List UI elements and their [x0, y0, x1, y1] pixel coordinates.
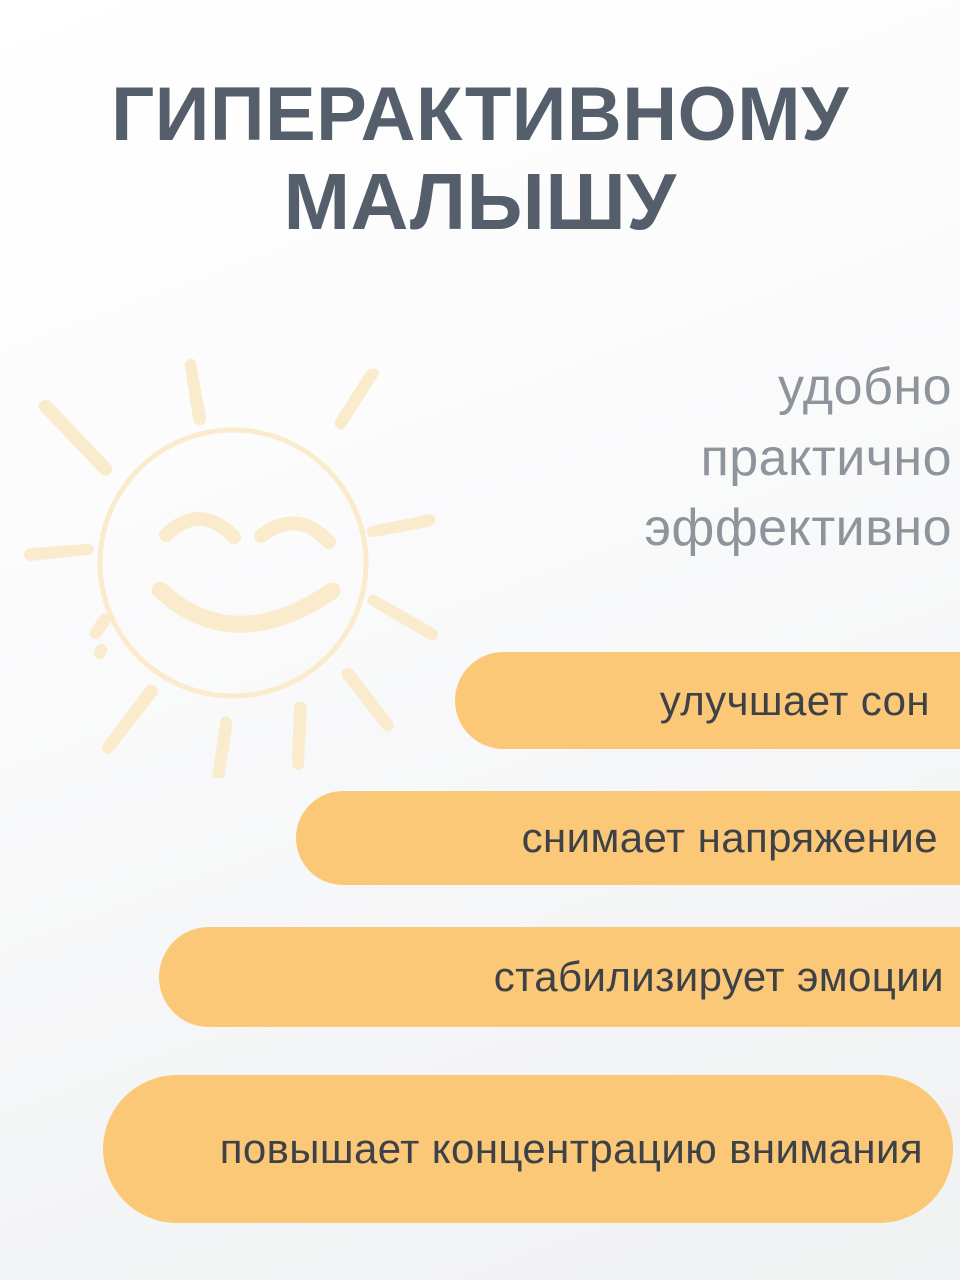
- benefit-pill-1-label: улучшает сон: [515, 674, 930, 728]
- benefit-pill-4-label: повышает концентрацию внимания: [163, 1123, 923, 1174]
- benefit-pill-3[interactable]: стабилизирует эмоции: [159, 927, 960, 1027]
- benefit-pill-3-label: стабилизирует эмоции: [219, 950, 944, 1004]
- subtitle-block: удобно практично эффективно: [392, 352, 952, 564]
- page-title: ГИПЕРАКТИВНОМУ МАЛЫШУ: [0, 72, 960, 247]
- subtitle-line-2: практично: [392, 423, 952, 494]
- headline-line-2: МАЛЫШУ: [0, 157, 960, 247]
- benefit-pill-2[interactable]: снимает напряжение: [296, 791, 960, 885]
- subtitle-line-3: эффективно: [392, 493, 952, 564]
- benefit-pill-2-label: снимает напряжение: [352, 811, 938, 865]
- headline-line-1: ГИПЕРАКТИВНОМУ: [0, 72, 960, 157]
- benefit-pill-1[interactable]: улучшает сон: [455, 652, 960, 749]
- smiling-sun-icon: [18, 348, 448, 778]
- benefit-pill-4[interactable]: повышает концентрацию внимания: [103, 1075, 953, 1223]
- subtitle-line-1: удобно: [392, 352, 952, 423]
- promo-poster: ГИПЕРАКТИВНОМУ МАЛЫШУ удобно практично э…: [0, 0, 960, 1280]
